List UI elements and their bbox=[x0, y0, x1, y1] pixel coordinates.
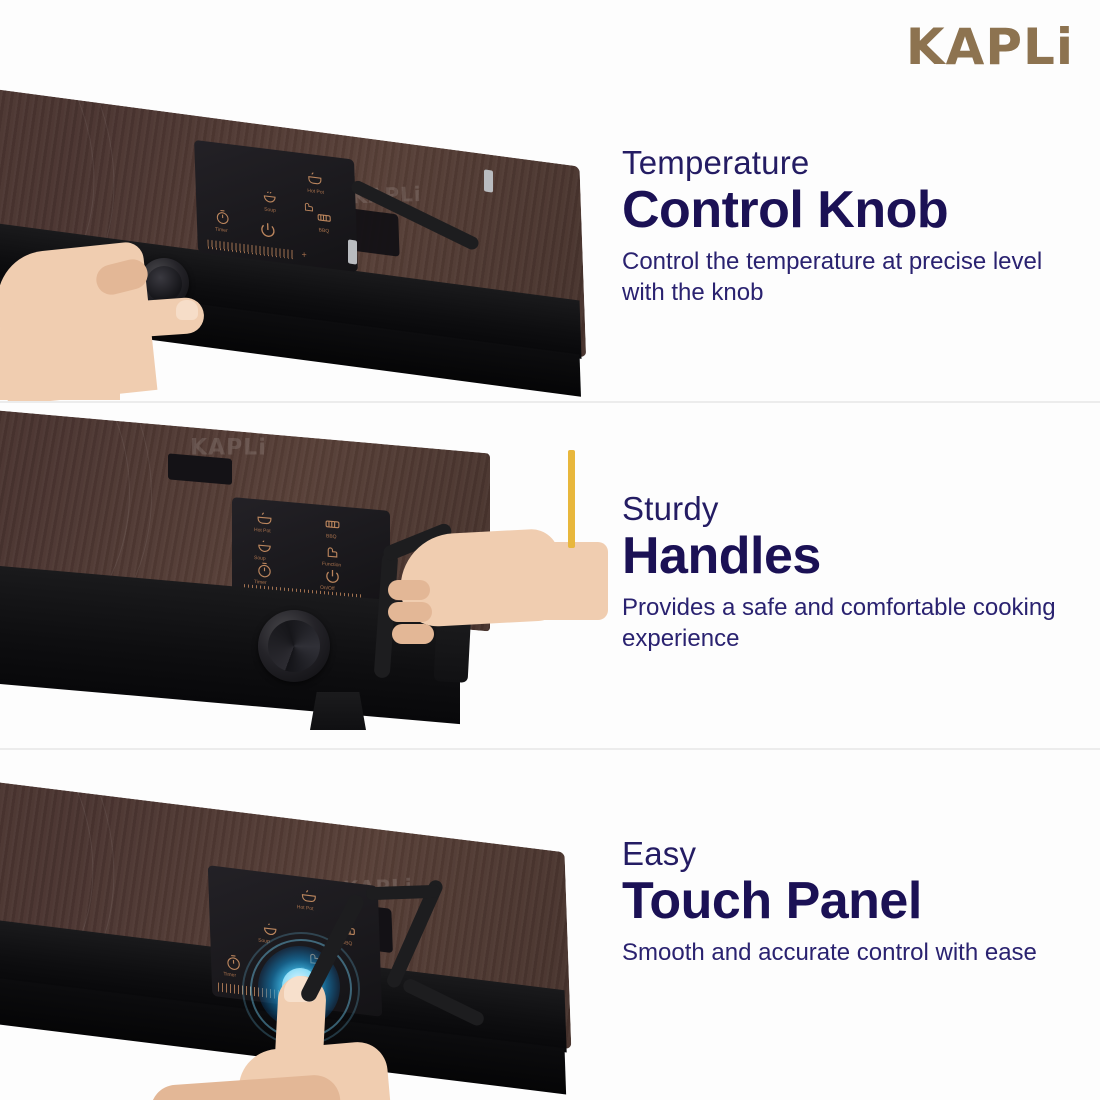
feature-description: Provides a safe and comfortable cooking … bbox=[622, 592, 1072, 655]
feature-description: Smooth and accurate control with ease bbox=[622, 937, 1072, 969]
feature-eyebrow: Easy bbox=[622, 837, 1072, 872]
feature-title: Control Knob bbox=[622, 183, 1072, 238]
bbq-icon[interactable] bbox=[324, 515, 341, 533]
timer-label: Timer bbox=[223, 971, 236, 979]
product-photo-knob: KAPLi Timer Sou bbox=[0, 0, 600, 402]
function-icon[interactable] bbox=[324, 543, 341, 561]
hotpot-icon[interactable] bbox=[307, 170, 324, 188]
feature-panel-easy-touch-panel: KAPLi Hot Pot BBQ bbox=[0, 750, 1100, 1100]
feature-eyebrow: Sturdy bbox=[622, 492, 1072, 527]
brand-logo: KAPLi bbox=[906, 18, 1074, 76]
soup-icon[interactable] bbox=[261, 188, 278, 206]
bbq-icon[interactable] bbox=[316, 209, 333, 227]
feature-eyebrow: Temperature bbox=[622, 146, 1072, 181]
feature-description: Control the temperature at precise level… bbox=[622, 246, 1072, 309]
feature-text-sturdy-handles: Sturdy Handles Provides a safe and comfo… bbox=[622, 492, 1072, 655]
timer-label: Timer bbox=[215, 226, 228, 234]
timer-icon[interactable] bbox=[225, 953, 243, 972]
soup-icon[interactable] bbox=[256, 537, 273, 555]
product-feature-infographic: KAPLi KAPLi bbox=[0, 0, 1100, 1100]
hotpot-label: Hot Pot bbox=[254, 527, 271, 534]
knob-face bbox=[146, 266, 182, 302]
hotpot-icon[interactable] bbox=[300, 887, 318, 906]
feature-panel-sturdy-handles: KAPLi Hot Pot BBQ bbox=[0, 404, 1100, 748]
slider-plus: + bbox=[301, 249, 307, 260]
product-photo-handles: KAPLi Hot Pot BBQ bbox=[0, 404, 600, 748]
timer-icon[interactable] bbox=[214, 208, 231, 226]
bbq-label: BBQ bbox=[326, 533, 337, 540]
handle-top-arm bbox=[366, 885, 440, 901]
hotpot-label: Hot Pot bbox=[297, 904, 314, 912]
power-icon[interactable] bbox=[324, 567, 341, 585]
panel-divider-2 bbox=[0, 748, 1100, 750]
timer-icon[interactable] bbox=[256, 561, 273, 579]
feature-text-temperature-control-knob: Temperature Control Knob Control the tem… bbox=[622, 146, 1072, 309]
knob-face bbox=[268, 620, 320, 672]
soup-label: Soup bbox=[264, 207, 276, 214]
function-icon[interactable] bbox=[302, 199, 316, 215]
panel-divider-1 bbox=[0, 401, 1100, 403]
touch-panel[interactable]: Timer Soup Hot Pot bbox=[194, 140, 358, 272]
rubber-foot bbox=[310, 692, 366, 730]
accent-bar bbox=[568, 450, 575, 548]
feature-title: Handles bbox=[622, 529, 1072, 584]
hotpot-icon[interactable] bbox=[256, 509, 273, 527]
handle-bracket-rear bbox=[484, 169, 493, 192]
hotpot-label: Hot Pot bbox=[307, 188, 324, 196]
feature-title: Touch Panel bbox=[622, 874, 1072, 929]
handle-bracket-front bbox=[348, 239, 357, 264]
feature-text-easy-touch-panel: Easy Touch Panel Smooth and accurate con… bbox=[622, 837, 1072, 968]
product-photo-touch-panel: KAPLi Hot Pot BBQ bbox=[0, 750, 600, 1100]
bbq-label: BBQ bbox=[319, 227, 330, 234]
power-icon[interactable] bbox=[259, 220, 278, 240]
